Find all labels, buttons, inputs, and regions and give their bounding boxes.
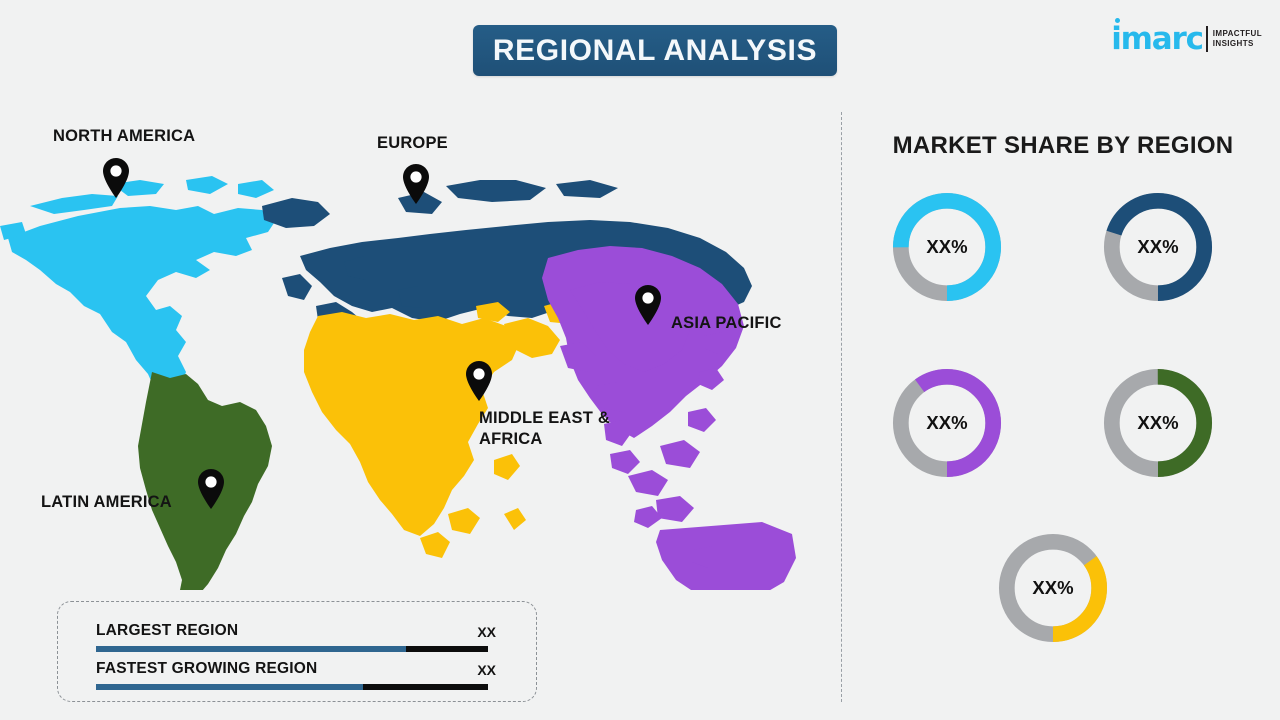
donut-chart-asia-pacific[interactable]: XX% — [886, 362, 1008, 484]
logo-wordmark-text: imarc — [1111, 21, 1203, 57]
donut-chart-latin-america[interactable]: XX% — [1097, 362, 1219, 484]
legend-box: LARGEST REGION XX FASTEST GROWING REGION… — [57, 601, 537, 702]
map-pin-north-america[interactable] — [101, 157, 131, 199]
donut-value-label: XX% — [886, 362, 1008, 484]
donut-chart-middle-east-africa[interactable]: XX% — [992, 527, 1114, 649]
map-pin-asia-pacific[interactable] — [633, 284, 663, 326]
map-label-north-america: NORTH AMERICA — [53, 126, 195, 147]
logo-wordmark: imarc — [1111, 24, 1203, 54]
location-pin-icon — [401, 163, 431, 205]
location-pin-icon — [633, 284, 663, 326]
donut-chart-north-america[interactable]: XX% — [886, 186, 1008, 308]
page-title-text: REGIONAL ANALYSIS — [493, 34, 817, 68]
map-pin-europe[interactable] — [401, 163, 431, 205]
infographic-page: REGIONAL ANALYSIS imarc IMPACTFUL INSIGH… — [0, 0, 1280, 720]
donut-value-label: XX% — [886, 186, 1008, 308]
location-pin-icon — [101, 157, 131, 199]
map-label-latin-america: LATIN AMERICA — [41, 492, 172, 513]
panel-title: MARKET SHARE BY REGION — [886, 132, 1240, 160]
legend-label: FASTEST GROWING REGION — [96, 660, 317, 678]
logo-tagline: IMPACTFUL INSIGHTS — [1213, 29, 1262, 49]
donut-value-label: XX% — [1097, 186, 1219, 308]
logo-tagline-line1: IMPACTFUL — [1213, 29, 1262, 39]
legend-progress-track — [96, 646, 488, 652]
donut-value-label: XX% — [992, 527, 1114, 649]
logo-divider — [1206, 26, 1208, 52]
location-pin-icon — [196, 468, 226, 510]
location-pin-icon — [464, 360, 494, 402]
map-pin-middle-east-africa[interactable] — [464, 360, 494, 402]
imarc-logo: imarc IMPACTFUL INSIGHTS — [1111, 20, 1262, 58]
legend-value: XX — [477, 662, 496, 678]
legend-row-largest-region: LARGEST REGION XX — [96, 622, 496, 652]
map-pin-latin-america[interactable] — [196, 468, 226, 510]
panel-divider — [841, 112, 842, 702]
legend-progress-fill — [96, 646, 406, 652]
legend-progress-track — [96, 684, 488, 690]
legend-label: LARGEST REGION — [96, 622, 238, 640]
map-label-middle-east-africa: MIDDLE EAST & AFRICA — [479, 408, 610, 450]
map-label-asia-pacific: ASIA PACIFIC — [671, 313, 782, 334]
logo-tagline-line2: INSIGHTS — [1213, 39, 1262, 49]
map-label-europe: EUROPE — [377, 133, 448, 154]
donut-chart-europe[interactable]: XX% — [1097, 186, 1219, 308]
page-title: REGIONAL ANALYSIS — [473, 25, 837, 76]
legend-value: XX — [477, 624, 496, 640]
donut-value-label: XX% — [1097, 362, 1219, 484]
legend-progress-fill — [96, 684, 363, 690]
legend-row-fastest-growing-region: FASTEST GROWING REGION XX — [96, 660, 496, 690]
